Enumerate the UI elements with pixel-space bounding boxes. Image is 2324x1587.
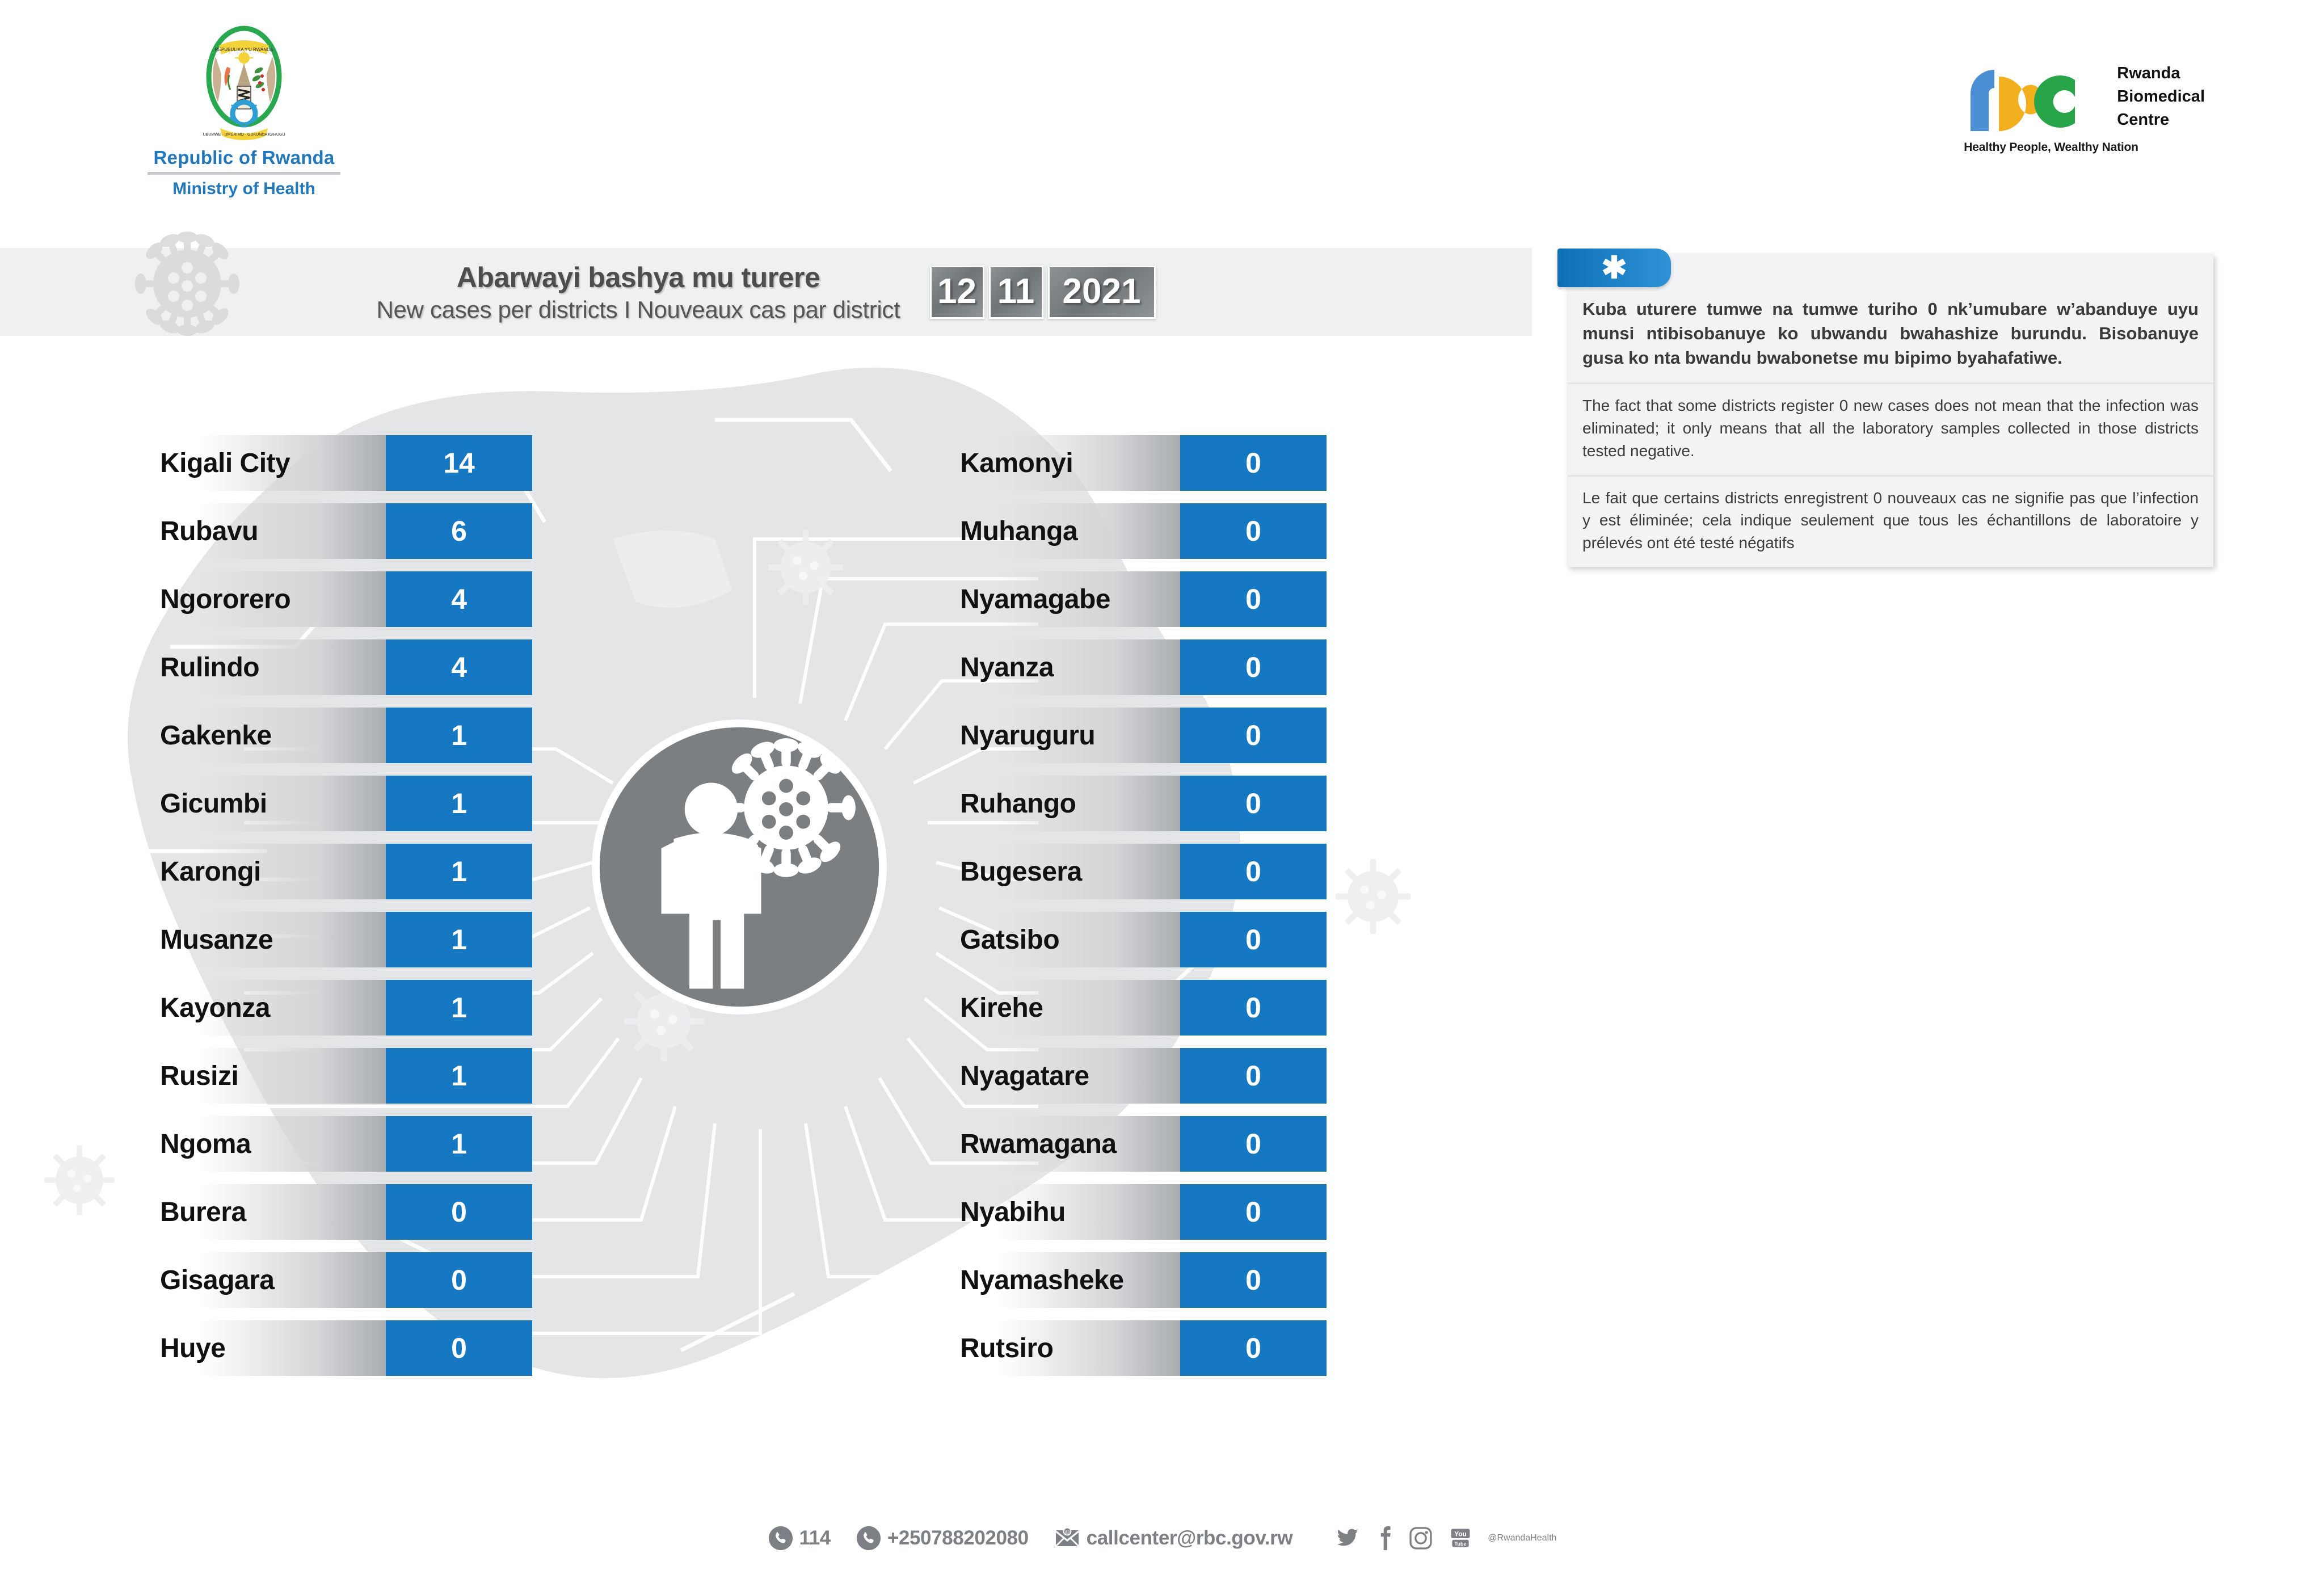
instagram-icon[interactable] [1408,1526,1433,1551]
svg-text:UBUMWE · UMURIMO · GUKUNDA IGI: UBUMWE · UMURIMO · GUKUNDA IGIHUGU [203,133,285,137]
phone-number: +250788202080 [887,1527,1029,1550]
district-cases: 0 [1180,503,1327,559]
date-day: 12 [930,266,984,319]
table-row[interactable]: Nyabihu 0 [948,1184,1327,1240]
table-row[interactable]: Kayonza 1 [148,980,532,1035]
district-cases: 1 [386,980,532,1035]
district-cases: 0 [386,1320,532,1376]
footer-social: You Tube @RwandaHealth [1334,1525,1556,1551]
district-name: Ngororero [148,571,386,627]
table-row[interactable]: Rulindo 4 [148,639,532,695]
title-kinyarwanda: Abarwayi bashya mu turere [376,261,900,294]
svg-text:You: You [1454,1530,1467,1538]
district-cases: 0 [1180,639,1327,695]
district-column-right: Kamonyi 0 Muhanga 0 Nyamagabe 0 Nyanza 0… [948,435,1327,1388]
facebook-icon[interactable] [1375,1525,1393,1551]
footer-phone[interactable]: +250788202080 [856,1525,1029,1551]
district-name: Nyabihu [948,1184,1180,1240]
table-row[interactable]: Bugesera 0 [948,844,1327,899]
district-name: Karongi [148,844,386,899]
district-column-left: Kigali City 14 Rubavu 6 Ngororero 4 Ruli… [148,435,532,1388]
phone-icon [768,1525,794,1551]
asterisk-glyph: ✱ [1601,259,1627,277]
table-row[interactable]: Kigali City 14 [148,435,532,491]
district-cases: 0 [386,1184,532,1240]
date-year: 2021 [1048,266,1156,319]
note-text-french: Le fait que certains districts enregistr… [1582,487,2199,554]
district-name: Bugesera [948,844,1180,899]
table-row[interactable]: Ngororero 4 [148,571,532,627]
footer-hotline[interactable]: 114 [768,1525,831,1551]
district-cases: 0 [1180,1184,1327,1240]
rbc-wordmark: Healthy People, Wealthy Nation [1964,60,2106,154]
svg-text:Tube: Tube [1455,1541,1467,1547]
rbc-fullname: Rwanda Biomedical Centre [2117,62,2205,132]
district-cases: 1 [386,708,532,763]
district-cases: 1 [386,844,532,899]
table-row[interactable]: Gakenke 1 [148,708,532,763]
table-row[interactable]: Nyanza 0 [948,639,1327,695]
table-row[interactable]: Nyagatare 0 [948,1048,1327,1104]
district-cases: 1 [386,1048,532,1104]
district-cases: 14 [386,435,532,491]
district-name: Rusizi [148,1048,386,1104]
note-text-kinyarwanda: Kuba uturere tumwe na tumwe turiho 0 nk’… [1582,297,2199,370]
envelope-icon: @ [1054,1525,1081,1552]
district-name: Nyaruguru [948,708,1180,763]
rbc-name-line2: Biomedical [2117,85,2205,108]
district-cases: 0 [1180,776,1327,831]
table-row[interactable]: Karongi 1 [148,844,532,899]
district-name: Kirehe [948,980,1180,1035]
table-row[interactable]: Nyamasheke 0 [948,1252,1327,1308]
note-section-french: Le fait que certains districts enregistr… [1568,477,2213,567]
district-name: Gakenke [148,708,386,763]
title-band-content: Abarwayi bashya mu turere New cases per … [0,248,1532,336]
district-name: Muhanga [948,503,1180,559]
table-row[interactable]: Ngoma 1 [148,1116,532,1172]
youtube-icon[interactable]: You Tube [1448,1525,1473,1551]
date-month: 11 [989,266,1043,319]
district-name: Musanze [148,912,386,967]
table-row[interactable]: Kirehe 0 [948,980,1327,1035]
note-section-english: The fact that some districts register 0 … [1568,384,2213,476]
table-row[interactable]: Nyaruguru 0 [948,708,1327,763]
note-text-english: The fact that some districts register 0 … [1582,394,2199,462]
footer-contact-bar: 114 +250788202080 @ callcenter@rbc.gov.r… [0,1525,2324,1552]
svg-text:@: @ [1064,1529,1070,1535]
district-name: Kayonza [148,980,386,1035]
rbc-name-line1: Rwanda [2117,62,2205,85]
district-name: Rubavu [148,503,386,559]
district-name: Ruhango [948,776,1180,831]
district-name: Nyamasheke [948,1252,1180,1308]
table-row[interactable]: Rusizi 1 [148,1048,532,1104]
footer-email[interactable]: @ callcenter@rbc.gov.rw [1054,1525,1293,1552]
title-bilingual: New cases per districts I Nouveaux cas p… [376,296,900,323]
rwanda-coat-of-arms-icon: REPUBULIKA Y'U RWANDA [193,23,295,145]
table-row[interactable]: Nyamagabe 0 [948,571,1327,627]
district-cases: 0 [1180,1252,1327,1308]
district-name: Rutsiro [948,1320,1180,1376]
table-row[interactable]: Rutsiro 0 [948,1320,1327,1376]
district-name: Gicumbi [148,776,386,831]
moh-divider [148,172,340,175]
district-cases: 0 [1180,1048,1327,1104]
ministry-of-health-logo: REPUBULIKA Y'U RWANDA [130,23,357,199]
district-cases: 6 [386,503,532,559]
district-cases: 0 [1180,435,1327,491]
district-cases: 0 [1180,571,1327,627]
moh-subtitle: Ministry of Health [130,179,357,199]
district-cases: 0 [1180,844,1327,899]
district-cases: 1 [386,1116,532,1172]
twitter-icon[interactable] [1334,1525,1361,1551]
disclaimer-note: ✱ Kuba uturere tumwe na tumwe turiho 0 n… [1568,254,2213,567]
district-cases: 4 [386,571,532,627]
rbc-tagline: Healthy People, Wealthy Nation [1964,141,2106,154]
email-address: callcenter@rbc.gov.rw [1087,1527,1293,1550]
district-name: Ngoma [148,1116,386,1172]
table-row[interactable]: Gatsibo 0 [948,912,1327,967]
table-row[interactable]: Gicumbi 1 [148,776,532,831]
table-row[interactable]: Muhanga 0 [948,503,1327,559]
district-name: Kamonyi [948,435,1180,491]
moh-title: Republic of Rwanda [130,147,357,169]
hotline-number: 114 [799,1527,831,1550]
district-cases: 1 [386,776,532,831]
person-with-virus-icon [583,711,895,1023]
district-name: Huye [148,1320,386,1376]
district-cases: 0 [386,1252,532,1308]
social-handle: @RwandaHealth [1488,1533,1556,1543]
district-name: Burera [148,1184,386,1240]
rbc-logo: Healthy People, Wealthy Nation Rwanda Bi… [1964,60,2205,154]
district-cases: 1 [386,912,532,967]
district-name: Rwamagana [948,1116,1180,1172]
table-row[interactable]: Rubavu 6 [148,503,532,559]
district-cases: 0 [1180,1320,1327,1376]
district-name: Nyagatare [948,1048,1180,1104]
report-date: 12 11 2021 [930,266,1156,319]
table-row[interactable]: Burera 0 [148,1184,532,1240]
table-row[interactable]: Gisagara 0 [148,1252,532,1308]
rbc-letters-icon [1964,60,2106,136]
district-name: Kigali City [148,435,386,491]
district-name: Nyamagabe [948,571,1180,627]
district-cases: 0 [1180,912,1327,967]
table-row[interactable]: Musanze 1 [148,912,532,967]
district-name: Gatsibo [948,912,1180,967]
infographic-page: REPUBULIKA Y'U RWANDA [0,0,2324,1587]
table-row[interactable]: Rwamagana 0 [948,1116,1327,1172]
table-row[interactable]: Ruhango 0 [948,776,1327,831]
rbc-name-line3: Centre [2117,108,2205,132]
district-cases: 0 [1180,708,1327,763]
district-cases: 4 [386,639,532,695]
phone-icon [856,1525,882,1551]
title-texts: Abarwayi bashya mu turere New cases per … [376,261,900,323]
district-name: Nyanza [948,639,1180,695]
table-row[interactable]: Kamonyi 0 [948,435,1327,491]
district-cases: 0 [1180,980,1327,1035]
district-name: Rulindo [148,639,386,695]
district-cases: 0 [1180,1116,1327,1172]
asterisk-icon: ✱ [1557,249,1671,287]
district-name: Gisagara [148,1252,386,1308]
table-row[interactable]: Huye 0 [148,1320,532,1376]
